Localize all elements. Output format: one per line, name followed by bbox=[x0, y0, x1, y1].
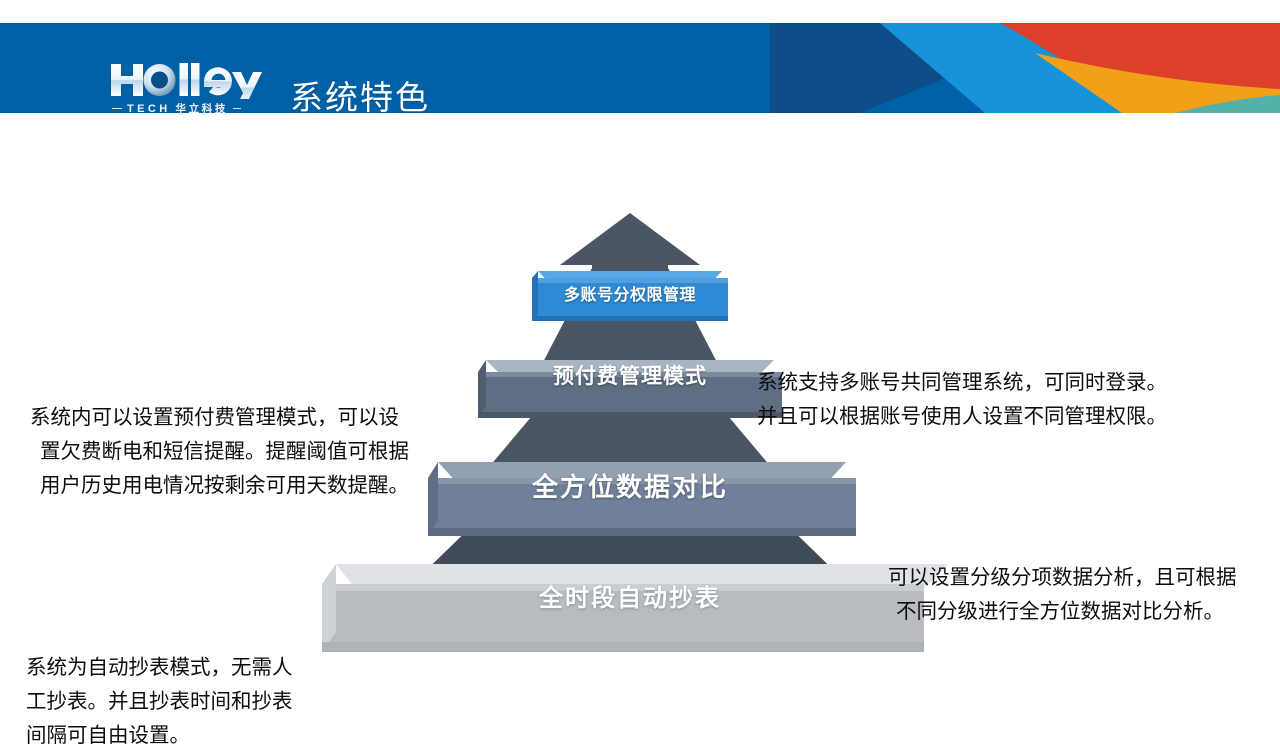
holley-wordmark-icon bbox=[110, 61, 270, 99]
annotation-right-bottom: 可以设置分级分项数据分析，且可根据 不同分级进行全方位数据对比分析。 bbox=[888, 561, 1237, 629]
logo-sub-cn: 华立科技 bbox=[176, 101, 228, 113]
annotation-left-bottom: 系统为自动抄表模式，无需人 工抄表。并且抄表时间和抄表 间隔可自由设置。 bbox=[26, 651, 293, 753]
annotation-right-bottom-line-1: 可以设置分级分项数据分析，且可根据 bbox=[888, 561, 1237, 595]
annotation-right-top-line-2: 并且可以根据账号使用人设置不同管理权限。 bbox=[757, 400, 1167, 434]
pyramid-tier-2 bbox=[478, 360, 782, 418]
annotation-right-top-line-1: 系统支持多账号共同管理系统，可同时登录。 bbox=[757, 366, 1167, 400]
logo-rule-right bbox=[233, 108, 241, 109]
annotation-left-top-line-2: 置欠费断电和短信提醒。提醒阈值可根据 bbox=[30, 435, 409, 469]
logo-rule-left bbox=[112, 108, 122, 109]
pyramid-tier-1 bbox=[532, 271, 728, 321]
pyramid-tier-3 bbox=[428, 462, 856, 536]
annotation-right-top: 系统支持多账号共同管理系统，可同时登录。 并且可以根据账号使用人设置不同管理权限… bbox=[757, 366, 1167, 434]
annotation-left-bottom-line-2: 工抄表。并且抄表时间和抄表 bbox=[26, 685, 293, 719]
pyramid-tier-4 bbox=[322, 564, 948, 652]
page-title: 系统特色 bbox=[290, 71, 430, 113]
page-header: TECH 华立科技 系统特色 bbox=[0, 23, 1280, 113]
annotation-left-top: 系统内可以设置预付费管理模式，可以设 置欠费断电和短信提醒。提醒阈值可根据 用户… bbox=[30, 401, 409, 503]
logo-subtitle: TECH 华立科技 bbox=[112, 101, 268, 113]
slide-body: 多账号分权限管理 预付费管理模式 全方位数据对比 全时段自动抄表 系统内可以设置… bbox=[0, 113, 1280, 720]
annotation-left-top-line-1: 系统内可以设置预付费管理模式，可以设 bbox=[30, 401, 409, 435]
annotation-left-top-line-3: 用户历史用电情况按剩余可用天数提醒。 bbox=[30, 469, 409, 503]
annotation-left-bottom-line-1: 系统为自动抄表模式，无需人 bbox=[26, 651, 293, 685]
annotation-left-bottom-line-3: 间隔可自由设置。 bbox=[26, 719, 293, 753]
holley-logo: TECH 华立科技 bbox=[110, 61, 270, 113]
logo-sub-en: TECH bbox=[127, 103, 171, 114]
annotation-right-bottom-line-2: 不同分级进行全方位数据对比分析。 bbox=[888, 595, 1237, 629]
